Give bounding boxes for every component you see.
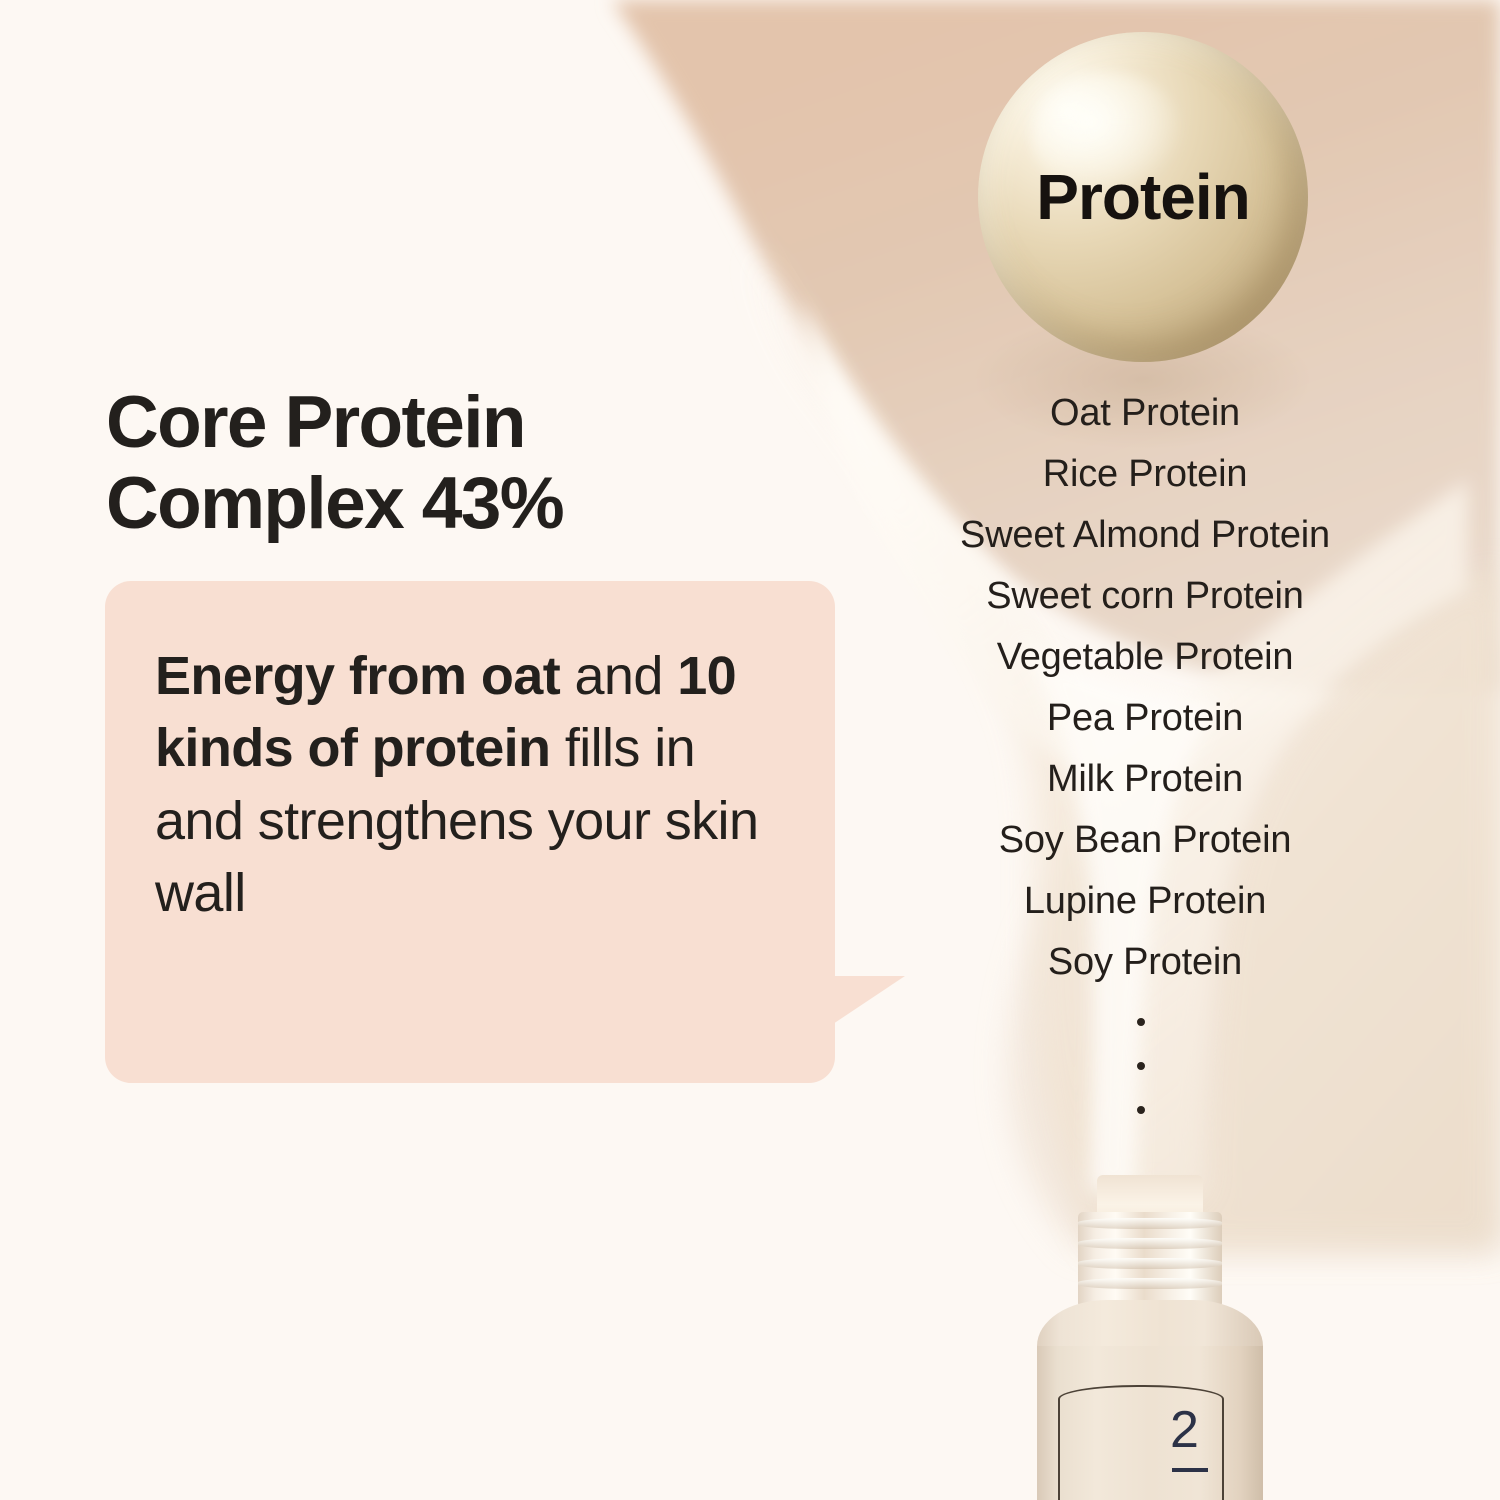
- bottle-neck: [1078, 1212, 1222, 1308]
- bubble-line-3a: protein: [372, 718, 551, 778]
- protein-ingredient-list: Oat Protein Rice Protein Sweet Almond Pr…: [860, 383, 1430, 993]
- bottle-thread: [1078, 1238, 1222, 1249]
- bubble-line-2a: and: [574, 646, 677, 706]
- speech-bubble-text: Energy from oat and 10 kinds of protein …: [155, 640, 795, 929]
- ellipsis-dot: [1137, 1106, 1145, 1114]
- list-item: Pea Protein: [860, 688, 1430, 749]
- list-item: Lupine Protein: [860, 871, 1430, 932]
- bottle-thread: [1078, 1218, 1222, 1229]
- list-item: Soy Bean Protein: [860, 810, 1430, 871]
- bottle-label-number: 2: [1170, 1404, 1199, 1456]
- bottle-label-underline: [1172, 1468, 1208, 1472]
- sphere-label: Protein: [978, 32, 1308, 362]
- vertical-ellipsis-icon: [1137, 1018, 1149, 1150]
- bubble-line-1: Energy from oat: [155, 646, 560, 706]
- list-item: Rice Protein: [860, 444, 1430, 505]
- list-item: Vegetable Protein: [860, 627, 1430, 688]
- list-item: Sweet Almond Protein: [860, 505, 1430, 566]
- list-item: Milk Protein: [860, 749, 1430, 810]
- list-item: Sweet corn Protein: [860, 566, 1430, 627]
- bubble-line-4: strengthens your: [258, 791, 651, 851]
- bottle-thread: [1078, 1278, 1222, 1289]
- bottle-label-border: [1058, 1385, 1224, 1500]
- ellipsis-dot: [1137, 1018, 1145, 1026]
- gold-sphere: Protein: [978, 32, 1308, 362]
- page-title: Core Protein Complex 43%: [106, 382, 826, 544]
- product-infographic: Protein Core Protein Complex 43% Energy …: [0, 0, 1500, 1500]
- bottle-thread: [1078, 1258, 1222, 1269]
- list-item: Oat Protein: [860, 383, 1430, 444]
- list-item: Soy Protein: [860, 932, 1430, 993]
- ellipsis-dot: [1137, 1062, 1145, 1070]
